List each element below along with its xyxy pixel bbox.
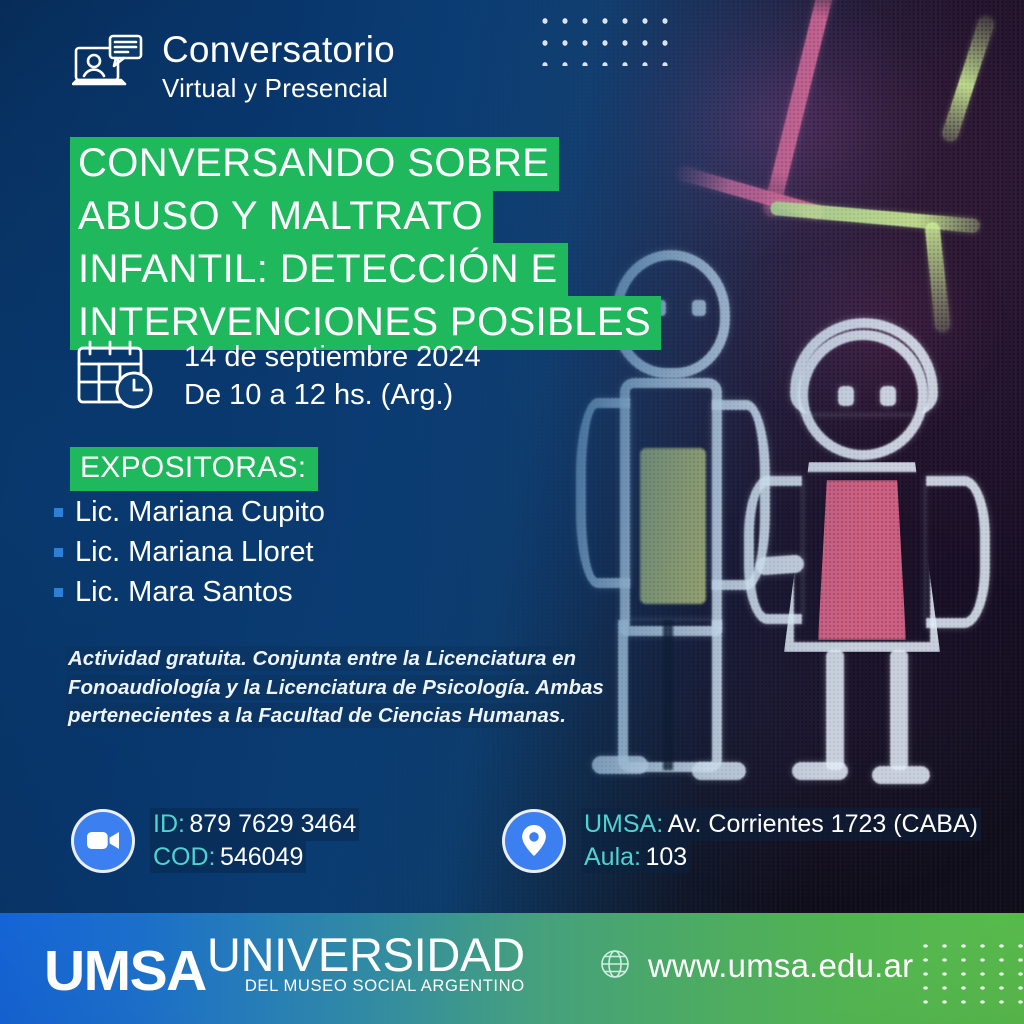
title-line-2: ABUSO Y MALTRATO [70, 190, 493, 244]
room-value: 103 [645, 843, 687, 871]
zoom-contact: ID: 879 7629 3464 COD: 546049 [74, 808, 359, 873]
header-subtitle: Virtual y Presencial [162, 72, 395, 105]
event-date-line2: De 10 a 12 hs. (Arg.) [184, 376, 481, 414]
header: Conversatorio Virtual y Presencial [72, 30, 395, 104]
event-date-row: 14 de septiembre 2024 De 10 a 12 hs. (Ar… [76, 338, 481, 415]
logo-universidad-text: UNIVERSIDAD [207, 935, 525, 975]
logo-right-block: UNIVERSIDAD DEL MUSEO SOCIAL ARGENTINO [207, 935, 525, 997]
page-title: CONVERSANDO SOBRE ABUSO Y MALTRATO INFAN… [70, 137, 661, 349]
header-title: Conversatorio [162, 30, 395, 70]
room-label: Aula: [584, 843, 641, 871]
speakers-list: Lic. Mariana Cupito Lic. Mariana Lloret … [54, 495, 325, 616]
speakers-label: EXPOSITORAS: [70, 447, 318, 491]
logo-subtitle-text: DEL MUSEO SOCIAL ARGENTINO [207, 978, 525, 995]
room-row: Aula: 103 [581, 841, 690, 874]
speaker-name: Lic. Mariana Cupito [75, 495, 325, 529]
logo-umsa-text: UMSA [44, 945, 206, 997]
event-date-line1: 14 de septiembre 2024 [184, 338, 481, 376]
location-contact-lines: UMSA: Av. Corrientes 1723 (CABA) Aula: 1… [581, 808, 981, 873]
activity-note: Actividad gratuita. Conjunta entre la Li… [66, 645, 606, 731]
poster-root: Conversatorio Virtual y Presencial CONVE… [0, 0, 1024, 1024]
video-camera-icon[interactable] [74, 812, 132, 870]
zoom-code-row: COD: 546049 [150, 841, 306, 874]
zoom-contact-lines: ID: 879 7629 3464 COD: 546049 [150, 808, 359, 873]
zoom-id-row: ID: 879 7629 3464 [150, 808, 359, 841]
event-date-text: 14 de septiembre 2024 De 10 a 12 hs. (Ar… [184, 338, 481, 415]
activity-note-text: Actividad gratuita. Conjunta entre la Li… [66, 646, 606, 728]
footer-bar: UMSA UNIVERSIDAD DEL MUSEO SOCIAL ARGENT… [0, 913, 1024, 1024]
speaker-name: Lic. Mariana Lloret [75, 535, 314, 569]
zoom-id-label: ID: [153, 810, 185, 838]
map-pin-icon[interactable] [505, 812, 563, 870]
globe-icon [600, 949, 630, 984]
venue-value: Av. Corrientes 1723 (CABA) [668, 810, 978, 838]
title-line-1: CONVERSANDO SOBRE [70, 137, 559, 191]
bullet-square-icon [54, 588, 63, 597]
location-contact: UMSA: Av. Corrientes 1723 (CABA) Aula: 1… [505, 808, 981, 873]
website-url: www.umsa.edu.ar [648, 947, 913, 985]
dot-grid-decoration-footer [916, 939, 1024, 1011]
zoom-code-label: COD: [153, 843, 216, 871]
title-line-3: INFANTIL: DETECCIÓN E [70, 243, 568, 297]
poster-content: Conversatorio Virtual y Presencial CONVE… [0, 0, 1024, 1024]
speaker-name: Lic. Mara Santos [75, 575, 293, 609]
list-item: Lic. Mara Santos [54, 575, 325, 609]
umsa-logo[interactable]: UMSA UNIVERSIDAD DEL MUSEO SOCIAL ARGENT… [44, 935, 525, 997]
zoom-code-value: 546049 [220, 843, 303, 871]
zoom-id-value: 879 7629 3464 [189, 810, 356, 838]
list-item: Lic. Mariana Cupito [54, 495, 325, 529]
bullet-square-icon [54, 508, 63, 517]
venue-row: UMSA: Av. Corrientes 1723 (CABA) [581, 808, 981, 841]
webinar-laptop-icon [72, 34, 144, 100]
header-text: Conversatorio Virtual y Presencial [162, 30, 395, 104]
list-item: Lic. Mariana Lloret [54, 535, 325, 569]
website-link[interactable]: www.umsa.edu.ar [600, 947, 913, 985]
calendar-clock-icon [76, 340, 162, 412]
venue-label: UMSA: [584, 810, 663, 838]
bullet-square-icon [54, 548, 63, 557]
